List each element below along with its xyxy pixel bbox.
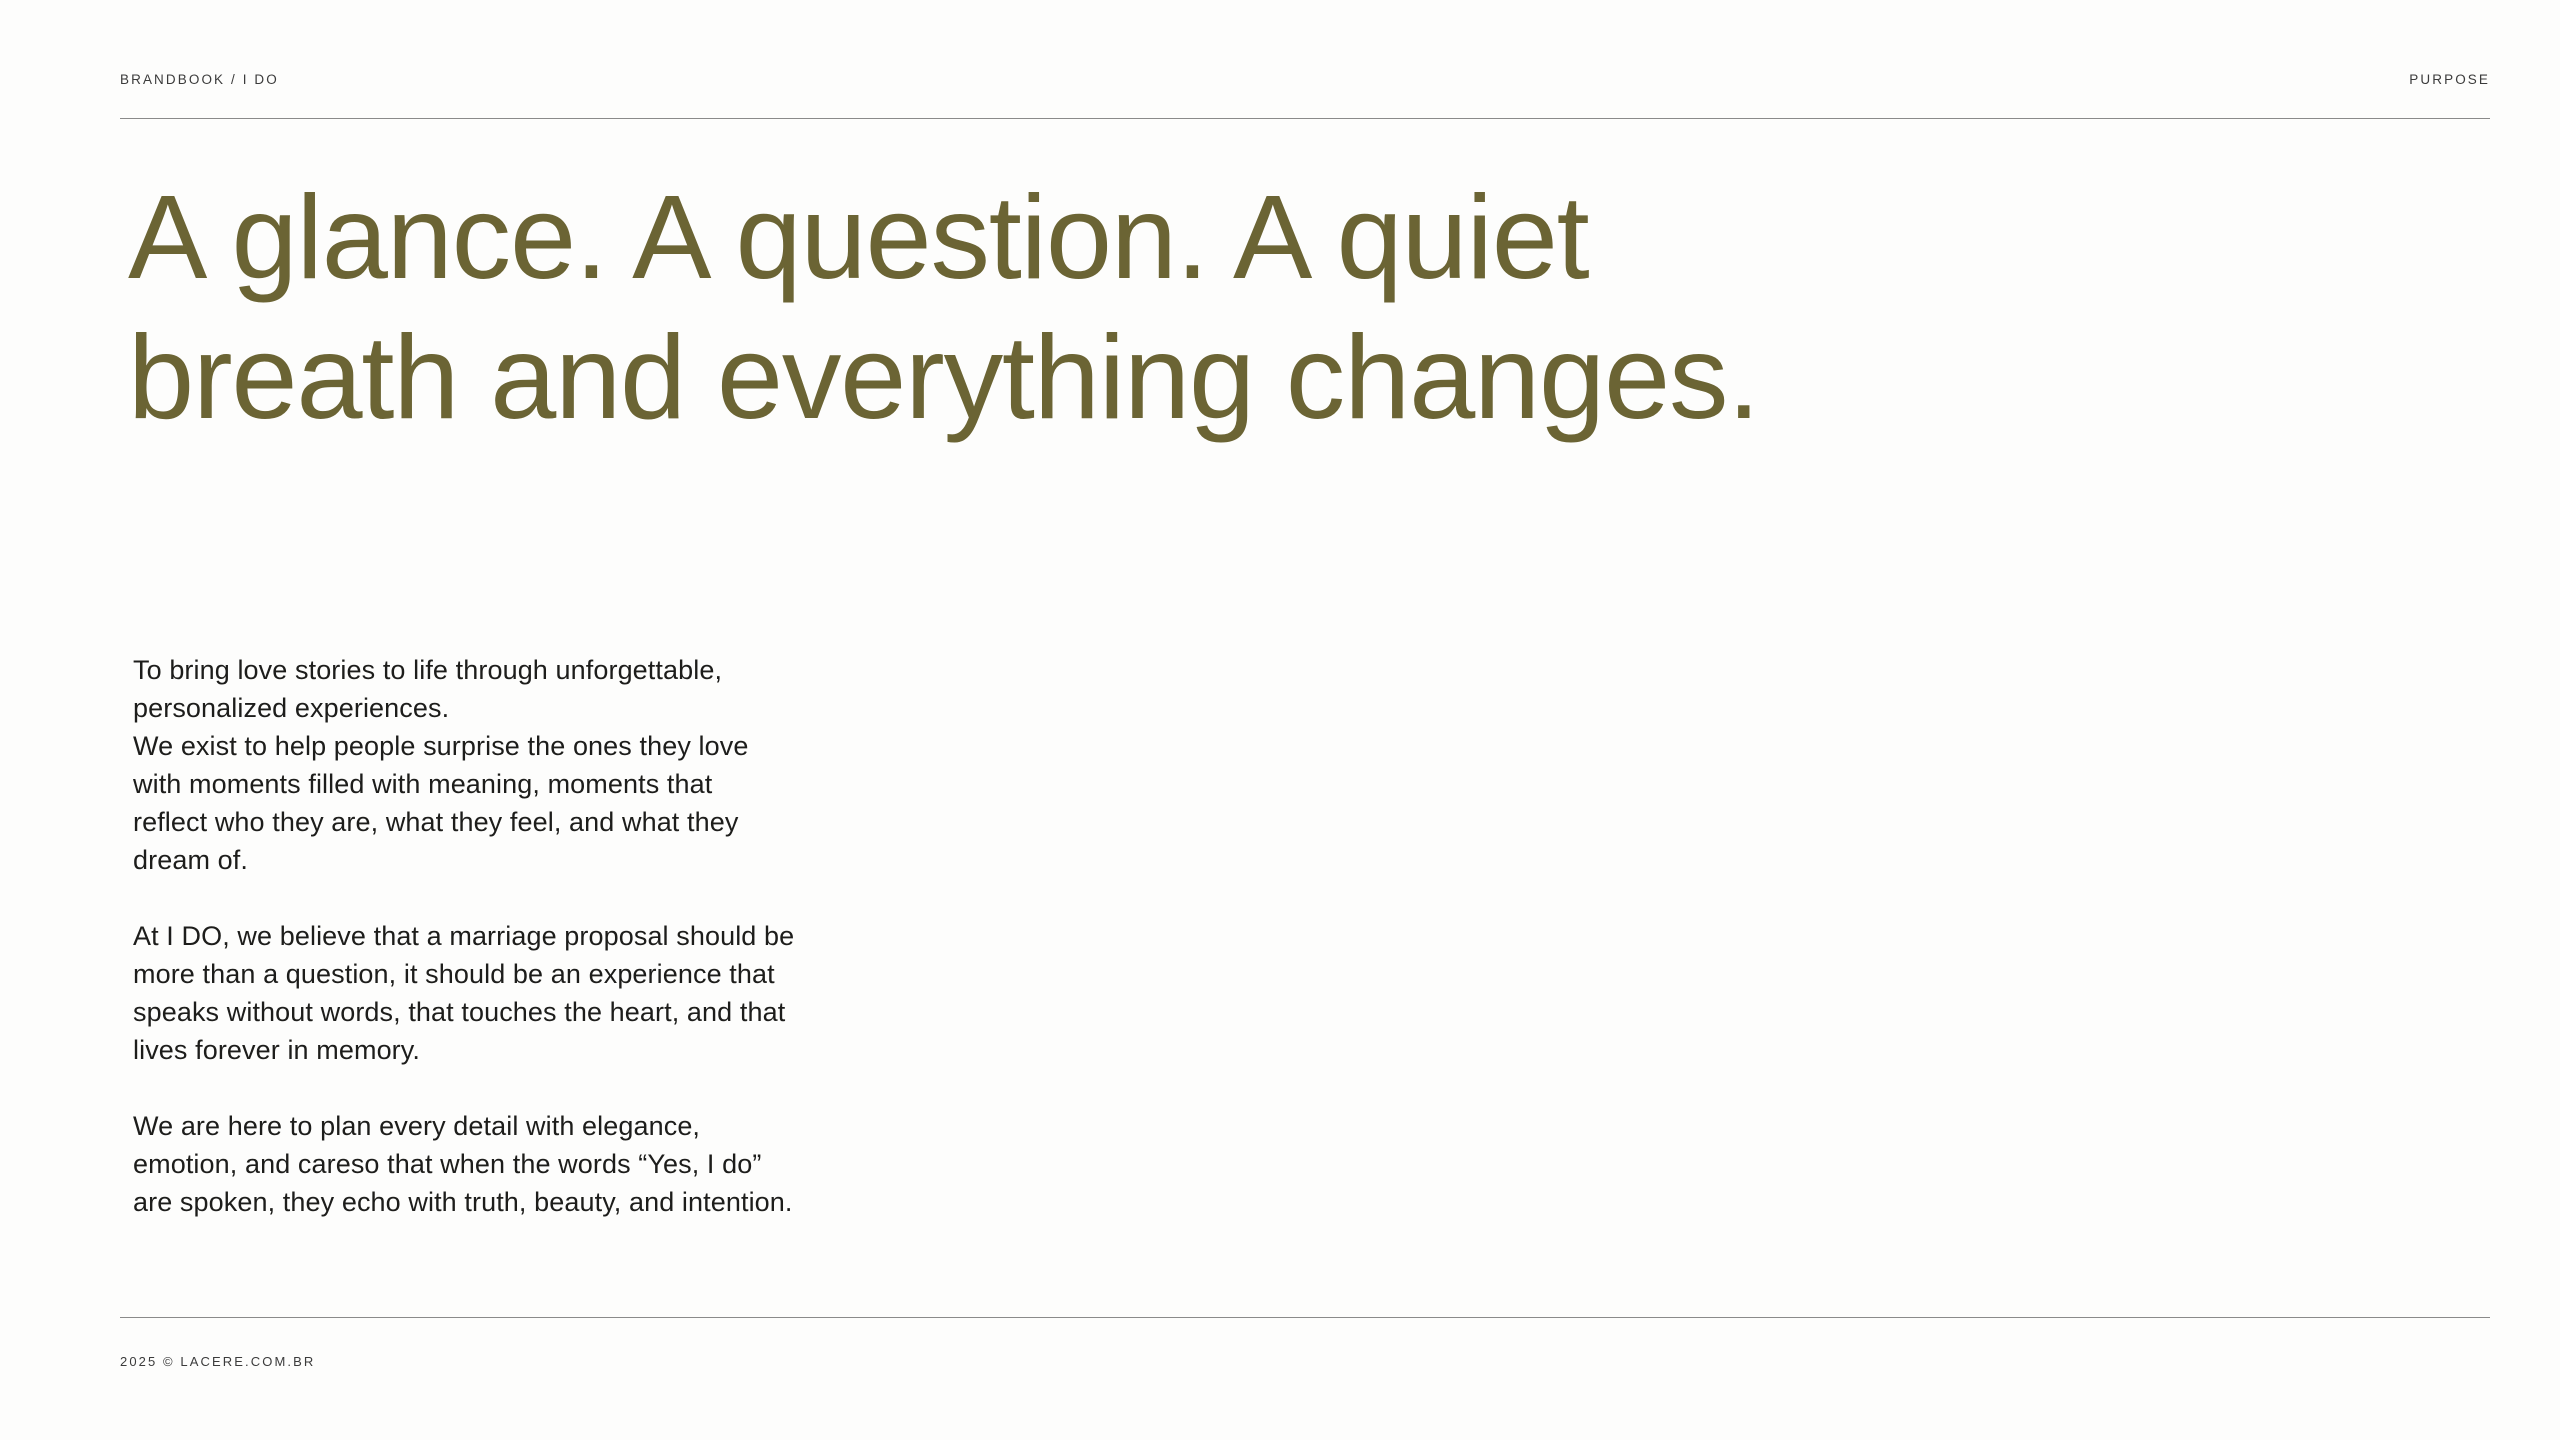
section-label-purpose: PURPOSE xyxy=(2409,72,2490,87)
page-title: A glance. A question. A quiet breath and… xyxy=(128,168,2228,448)
body-paragraph: We are here to plan every detail with el… xyxy=(133,1107,963,1221)
body-paragraph: At I DO, we believe that a marriage prop… xyxy=(133,917,963,1069)
footer-copyright: 2025 © LACERE.COM.BR xyxy=(120,1354,315,1369)
header-divider xyxy=(120,118,2490,119)
footer-divider xyxy=(120,1317,2490,1318)
brandbook-slide: BRANDBOOK / I DO PURPOSE A glance. A que… xyxy=(0,0,2560,1440)
slide-header: BRANDBOOK / I DO PURPOSE xyxy=(120,72,2490,87)
slide-footer: 2025 © LACERE.COM.BR xyxy=(120,1354,2490,1369)
purpose-body-copy: To bring love stories to life through un… xyxy=(133,651,963,1221)
body-paragraph: To bring love stories to life through un… xyxy=(133,651,963,879)
breadcrumb-brandbook: BRANDBOOK / I DO xyxy=(120,72,279,87)
